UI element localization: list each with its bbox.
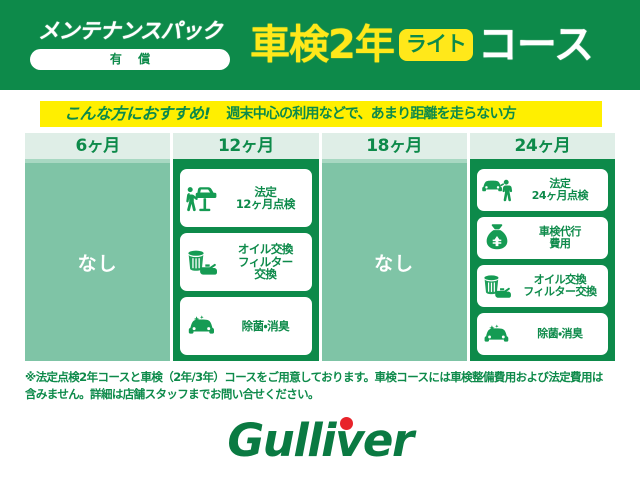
paid-badge: 有 償: [30, 49, 230, 70]
footnote-line-1: ※法定点検2年コースと車検（2年/3年）コースをご用意しております。車検コースに…: [25, 369, 617, 386]
service-card: オイル交換 フィルター 交換: [180, 233, 311, 291]
service-card: 除菌・消臭: [180, 297, 311, 355]
table-cell-12m: 法定 12ヶ月点検 オイル交換: [173, 163, 318, 361]
maintenance-pack-poster: メンテナンスパック 有 償 車検2年 ライト コース こんな方におすすめ! 週末…: [0, 0, 640, 480]
none-label-18m: なし: [374, 249, 414, 276]
table-header-cell-24m: 24ヶ月: [470, 133, 615, 163]
paid-badge-label: 有 償: [104, 53, 156, 65]
service-card-label: 除菌・消臭: [516, 328, 604, 340]
table-header-cell-12m: 12ヶ月: [173, 133, 318, 163]
car-lift-inspection-icon: [184, 183, 220, 213]
service-card: オイル交換 フィルター交換: [477, 265, 608, 307]
service-card-label: 除菌・消臭: [223, 320, 307, 332]
oil-filter-change-icon: [184, 247, 220, 277]
recommendation-headline: こんな方におすすめ!: [64, 106, 210, 122]
course-label: コース: [478, 25, 593, 65]
none-label-6m: なし: [78, 249, 118, 276]
table-header-cell-6m: 6ヶ月: [25, 133, 170, 163]
header-label-6m: 6ヶ月: [75, 138, 119, 155]
oil-filter-change-icon: [481, 271, 513, 301]
maintenance-pack-title: メンテナンスパック: [38, 21, 222, 42]
header-label-24m: 24ヶ月: [515, 138, 571, 155]
service-card: 法定 24ヶ月点検: [477, 169, 608, 211]
table-cell-24m: 法定 24ヶ月点検 車検代行 費用: [470, 163, 615, 361]
logo-red-dot-icon: [340, 417, 353, 430]
service-card-label: 法定 24ヶ月点検: [516, 178, 604, 202]
brand-logo: Gulliver: [0, 411, 640, 469]
header-banner: メンテナンスパック 有 償 車検2年 ライト コース: [0, 0, 640, 90]
table-cell-18m: なし: [322, 163, 467, 361]
money-bag-yen-icon: [481, 223, 513, 253]
service-card: 法定 12ヶ月点検: [180, 169, 311, 227]
recommendation-description: 週末中心の利用などで、あまり距離を走らない方: [226, 107, 516, 121]
service-card: 除菌・消臭: [477, 313, 608, 355]
footnote-line-2: 含みません。詳細は店舗スタッフまでお問い合せください。: [25, 386, 617, 403]
gulliver-wordmark: Gulliver: [227, 418, 412, 463]
shaken-2year-label: 車検2年: [250, 25, 394, 65]
header-label-12m: 12ヶ月: [218, 138, 274, 155]
maintenance-schedule-table: 6ヶ月 12ヶ月 18ヶ月 24ヶ月 なし: [25, 133, 615, 361]
header-label-18m: 18ヶ月: [366, 138, 422, 155]
recommendation-bar: こんな方におすすめ! 週末中心の利用などで、あまり距離を走らない方: [40, 101, 602, 127]
car-sanitize-icon: [184, 311, 220, 341]
service-card-label: 法定 12ヶ月点検: [223, 186, 307, 211]
car-inspection-agent-icon: [481, 175, 513, 205]
course-title-block: 車検2年 ライト コース: [250, 25, 640, 65]
table-cell-6m: なし: [25, 163, 170, 361]
service-card-label: オイル交換 フィルター交換: [516, 274, 604, 298]
table-header-cell-18m: 18ヶ月: [322, 133, 467, 163]
car-sanitize-icon: [481, 319, 513, 349]
footnote: ※法定点検2年コースと車検（2年/3年）コースをご用意しております。車検コースに…: [25, 369, 617, 402]
maintenance-pack-block: メンテナンスパック 有 償: [14, 21, 246, 70]
service-card-label: オイル交換 フィルター 交換: [223, 243, 307, 280]
service-card: 車検代行 費用: [477, 217, 608, 259]
light-course-badge: ライト: [399, 29, 473, 61]
service-card-label: 車検代行 費用: [516, 226, 604, 250]
